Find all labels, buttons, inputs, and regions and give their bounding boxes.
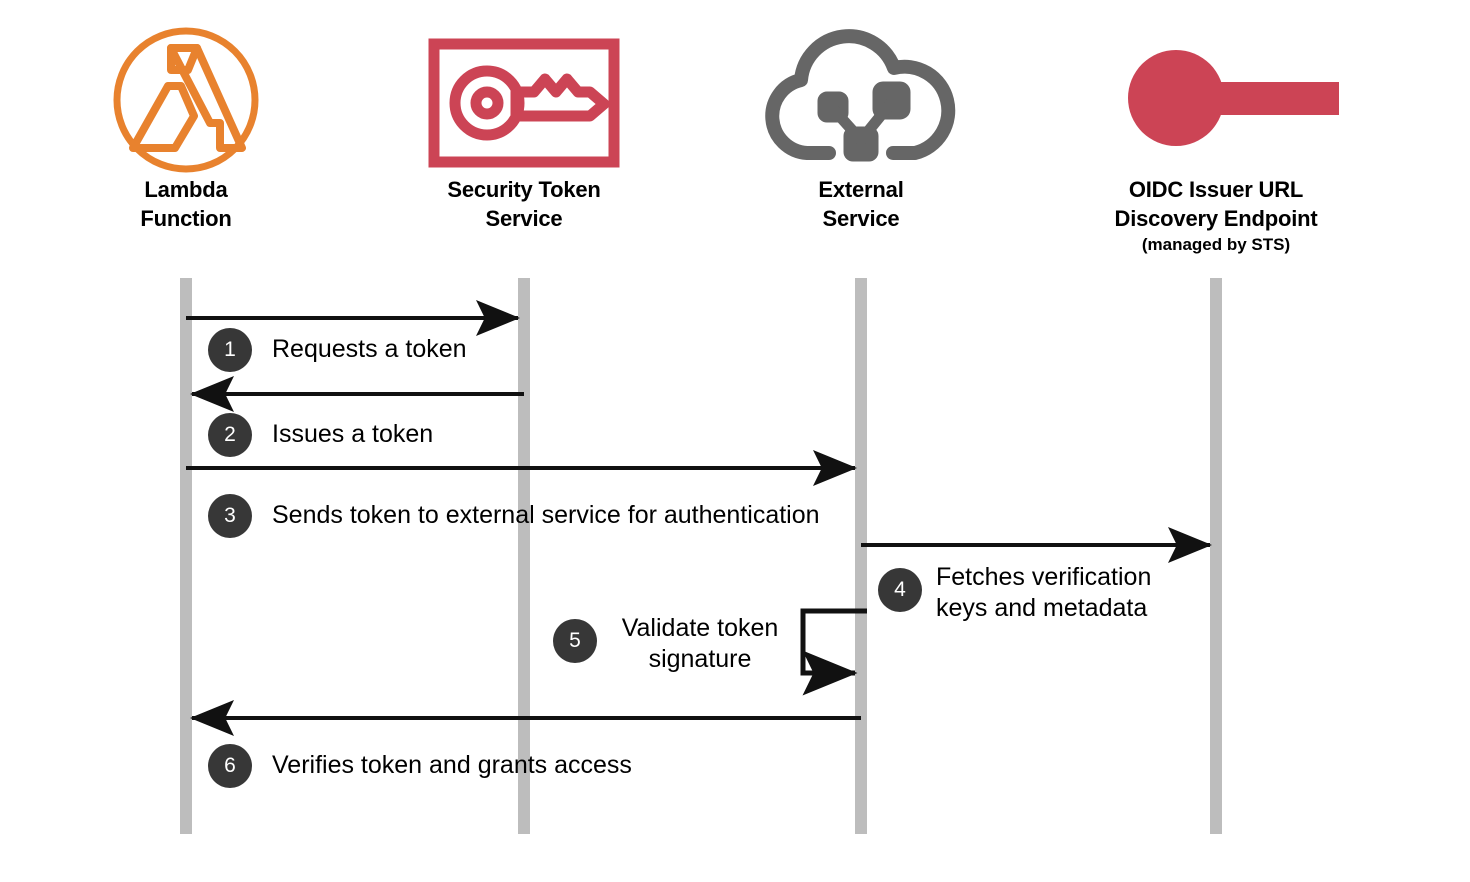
sequence-diagram: Lambda Function Security Token Service [0, 0, 1470, 882]
lifeline-external [855, 278, 867, 834]
message-badge-2: 2 [208, 413, 252, 457]
participant-lambda-label-line1: Lambda [36, 175, 336, 204]
participant-external-label-line2: Service [711, 204, 1011, 233]
participant-sts-label-line1: Security Token [374, 175, 674, 204]
security-token-service-key-icon [374, 25, 674, 175]
participant-lambda: Lambda Function [36, 25, 336, 233]
message-badge-3: 3 [208, 494, 252, 538]
participant-external-label-line1: External [711, 175, 1011, 204]
participant-oidc-label-line1: OIDC Issuer URL [1066, 175, 1366, 204]
participant-external: External Service [711, 25, 1011, 233]
participant-sts-label-line2: Service [374, 204, 674, 233]
message-label-4: Fetches verification keys and metadata [936, 562, 1151, 624]
message-badge-6: 6 [208, 744, 252, 788]
message-label-3: Sends token to external service for auth… [272, 500, 820, 531]
message-badge-5: 5 [553, 619, 597, 663]
message-label-5: Validate token signature [611, 613, 789, 675]
lifeline-oidc [1210, 278, 1222, 834]
lambda-function-icon [36, 25, 336, 175]
participant-oidc: OIDC Issuer URL Discovery Endpoint (mana… [1066, 25, 1366, 256]
message-label-6: Verifies token and grants access [272, 750, 632, 781]
lifeline-lambda [180, 278, 192, 834]
message-label-1: Requests a token [272, 334, 467, 365]
oidc-endpoint-icon [1066, 25, 1366, 175]
message-badge-1: 1 [208, 328, 252, 372]
participant-lambda-label-line2: Function [36, 204, 336, 233]
message-badge-4: 4 [878, 568, 922, 612]
participant-oidc-sublabel: (managed by STS) [1066, 233, 1366, 256]
external-service-cloud-icon [711, 25, 1011, 175]
participant-oidc-label-line2: Discovery Endpoint [1066, 204, 1366, 233]
participant-sts: Security Token Service [374, 25, 674, 233]
message-label-2: Issues a token [272, 419, 433, 450]
